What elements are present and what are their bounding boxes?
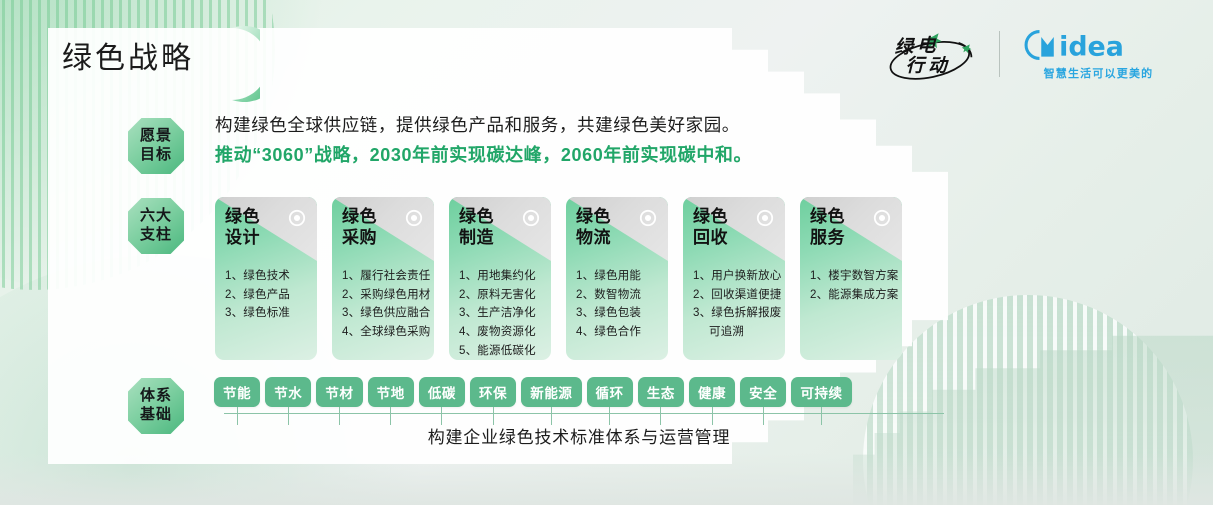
pillar-item: 2、回收渠道便捷 bbox=[693, 286, 779, 305]
pillar-title-line2: 采购 bbox=[342, 227, 377, 248]
pillar-title-line1: 绿色 bbox=[693, 206, 728, 227]
pillar-title: 绿色采购 bbox=[342, 206, 377, 248]
pillar-title-line2: 服务 bbox=[810, 227, 845, 248]
pillar-item: 1、履行社会责任 bbox=[342, 267, 428, 286]
system-tag-wrap: 可持续 bbox=[791, 377, 851, 425]
background-skyline-silhouette bbox=[853, 325, 1213, 505]
badge-system-foundation: 体系 基础 bbox=[128, 378, 184, 434]
system-tag-wrap: 节材 bbox=[316, 377, 362, 425]
page-title: 绿色战略 bbox=[62, 33, 194, 77]
pillar-item: 1、绿色技术 bbox=[225, 267, 311, 286]
system-tag[interactable]: 低碳 bbox=[419, 377, 465, 407]
vision-text-block: 构建绿色全球供应链，提供绿色产品和服务，共建绿色美好家园。 推动“3060”战略… bbox=[215, 112, 752, 169]
badge-system-line2: 基础 bbox=[140, 406, 172, 425]
pillar-item-list: 1、绿色用能2、数智物流3、绿色包装4、绿色合作 bbox=[576, 267, 662, 342]
pillar-item: 1、用地集约化 bbox=[459, 267, 545, 286]
pillar-item: 4、全球绿色采购 bbox=[342, 323, 428, 342]
slide-root: 绿色战略 绿 电 行 动 idea 智慧生活可以更美的 愿景 bbox=[0, 0, 1213, 505]
system-tag[interactable]: 循环 bbox=[587, 377, 633, 407]
pillar-title: 绿色制造 bbox=[459, 206, 494, 248]
badge-vision-line1: 愿景 bbox=[140, 127, 172, 146]
system-tag-wrap: 节地 bbox=[368, 377, 414, 425]
pillar-item-list: 1、用地集约化2、原料无害化3、生产洁净化4、废物资源化5、能源低碳化 bbox=[459, 267, 545, 360]
pillar-item: 3、绿色供应融合 bbox=[342, 304, 428, 323]
system-tag[interactable]: 节能 bbox=[214, 377, 260, 407]
system-tag[interactable]: 新能源 bbox=[521, 377, 581, 407]
pillar-item-list: 1、履行社会责任2、采购绿色用材3、绿色供应融合4、全球绿色采购 bbox=[342, 267, 428, 342]
pillar-title-line1: 绿色 bbox=[225, 206, 260, 227]
pillar-item: 2、能源集成方案 bbox=[810, 286, 896, 305]
pillar-item: 3、绿色标准 bbox=[225, 304, 311, 323]
target-ring-icon bbox=[288, 209, 306, 227]
system-tag[interactable]: 节材 bbox=[316, 377, 362, 407]
badge-pillars-line1: 六大 bbox=[140, 207, 172, 226]
pillar-item: 2、数智物流 bbox=[576, 286, 662, 305]
system-tag-wrap: 节水 bbox=[265, 377, 311, 425]
system-tag-wrap: 健康 bbox=[689, 377, 735, 425]
pillar-item: 可追溯 bbox=[693, 323, 779, 342]
system-caption: 构建企业绿色技术标准体系与运营管理 bbox=[214, 423, 944, 448]
svg-text:电: 电 bbox=[917, 36, 937, 57]
brand-divider bbox=[999, 31, 1000, 77]
system-tag[interactable]: 安全 bbox=[740, 377, 786, 407]
pillar-title-line1: 绿色 bbox=[576, 206, 611, 227]
badge-pillars-line2: 支柱 bbox=[140, 226, 172, 245]
svg-text:行: 行 bbox=[906, 56, 928, 77]
target-ring-icon bbox=[405, 209, 423, 227]
pillar-title: 绿色设计 bbox=[225, 206, 260, 248]
system-tag-wrap: 安全 bbox=[740, 377, 786, 425]
system-tags-rail bbox=[224, 413, 944, 414]
system-tag-wrap: 循环 bbox=[587, 377, 633, 425]
pillar-title-line1: 绿色 bbox=[342, 206, 377, 227]
pillar-card[interactable]: 绿色设计1、绿色技术2、绿色产品3、绿色标准 bbox=[215, 197, 317, 360]
midea-logo-block: idea 智慧生活可以更美的 bbox=[1018, 28, 1179, 81]
pillar-item: 3、绿色拆解报废 bbox=[693, 304, 779, 323]
pillar-item: 5、能源低碳化 bbox=[459, 342, 545, 361]
system-tag-wrap: 新能源 bbox=[521, 377, 581, 425]
system-tag[interactable]: 健康 bbox=[689, 377, 735, 407]
background-striped-circle-bottom-right bbox=[863, 295, 1193, 505]
target-ring-icon bbox=[756, 209, 774, 227]
pillar-title-line1: 绿色 bbox=[810, 206, 845, 227]
system-tags-row: 节能节水节材节地低碳环保新能源循环生态健康安全可持续 bbox=[214, 377, 852, 425]
pillar-card[interactable]: 绿色制造1、用地集约化2、原料无害化3、生产洁净化4、废物资源化5、能源低碳化 bbox=[449, 197, 551, 360]
pillar-title-line2: 回收 bbox=[693, 227, 728, 248]
pillar-title: 绿色物流 bbox=[576, 206, 611, 248]
pillar-item: 2、采购绿色用材 bbox=[342, 286, 428, 305]
target-ring-icon bbox=[522, 209, 540, 227]
badge-vision-goal: 愿景 目标 bbox=[128, 118, 184, 174]
pillar-item: 1、楼宇数智方案 bbox=[810, 267, 896, 286]
pillar-title-line2: 物流 bbox=[576, 227, 611, 248]
midea-tagline: 智慧生活可以更美的 bbox=[1044, 65, 1154, 81]
pillar-item-list: 1、楼宇数智方案2、能源集成方案 bbox=[810, 267, 896, 304]
pillar-item: 1、用户换新放心 bbox=[693, 267, 779, 286]
system-tag[interactable]: 生态 bbox=[638, 377, 684, 407]
pillar-title: 绿色服务 bbox=[810, 206, 845, 248]
pillar-item: 1、绿色用能 bbox=[576, 267, 662, 286]
system-tag-wrap: 节能 bbox=[214, 377, 260, 425]
pillar-item: 2、绿色产品 bbox=[225, 286, 311, 305]
pillar-item-list: 1、用户换新放心2、回收渠道便捷3、绿色拆解报废可追溯 bbox=[693, 267, 779, 342]
system-tag-wrap: 生态 bbox=[638, 377, 684, 425]
system-tag-wrap: 低碳 bbox=[419, 377, 465, 425]
vision-statement: 构建绿色全球供应链，提供绿色产品和服务，共建绿色美好家园。 bbox=[215, 112, 752, 138]
pillar-card[interactable]: 绿色服务1、楼宇数智方案2、能源集成方案 bbox=[800, 197, 902, 360]
pillar-item-list: 1、绿色技术2、绿色产品3、绿色标准 bbox=[225, 267, 311, 323]
brand-area: 绿 电 行 动 idea 智慧生活可以更美的 bbox=[885, 26, 1179, 82]
system-tag[interactable]: 可持续 bbox=[791, 377, 851, 407]
pillar-item: 3、绿色包装 bbox=[576, 304, 662, 323]
pillar-title: 绿色回收 bbox=[693, 206, 728, 248]
pillar-card[interactable]: 绿色采购1、履行社会责任2、采购绿色用材3、绿色供应融合4、全球绿色采购 bbox=[332, 197, 434, 360]
pillar-cards-row: 绿色设计1、绿色技术2、绿色产品3、绿色标准绿色采购1、履行社会责任2、采购绿色… bbox=[215, 197, 902, 360]
pillar-item: 4、废物资源化 bbox=[459, 323, 545, 342]
midea-logo: idea bbox=[1018, 28, 1179, 62]
system-tag[interactable]: 环保 bbox=[470, 377, 516, 407]
target-ring-icon bbox=[873, 209, 891, 227]
pillar-card[interactable]: 绿色回收1、用户换新放心2、回收渠道便捷3、绿色拆解报废可追溯 bbox=[683, 197, 785, 360]
pillar-item: 3、生产洁净化 bbox=[459, 304, 545, 323]
badge-vision-line2: 目标 bbox=[140, 146, 172, 165]
target-ring-icon bbox=[639, 209, 657, 227]
badge-six-pillars: 六大 支柱 bbox=[128, 198, 184, 254]
badge-system-line1: 体系 bbox=[140, 387, 172, 406]
pillar-title-line2: 设计 bbox=[225, 227, 260, 248]
system-tag-wrap: 环保 bbox=[470, 377, 516, 425]
pillar-title-line1: 绿色 bbox=[459, 206, 494, 227]
pillar-title-line2: 制造 bbox=[459, 227, 494, 248]
pillar-item: 4、绿色合作 bbox=[576, 323, 662, 342]
green-action-logo: 绿 电 行 动 bbox=[885, 26, 981, 82]
pillar-item: 2、原料无害化 bbox=[459, 286, 545, 305]
vision-3060-target: 推动“3060”战略，2030年前实现碳达峰，2060年前实现碳中和。 bbox=[215, 142, 752, 169]
pillar-card[interactable]: 绿色物流1、绿色用能2、数智物流3、绿色包装4、绿色合作 bbox=[566, 197, 668, 360]
system-tag[interactable]: 节水 bbox=[265, 377, 311, 407]
system-tag[interactable]: 节地 bbox=[368, 377, 414, 407]
svg-text:动: 动 bbox=[928, 56, 949, 77]
svg-text:idea: idea bbox=[1059, 31, 1124, 61]
